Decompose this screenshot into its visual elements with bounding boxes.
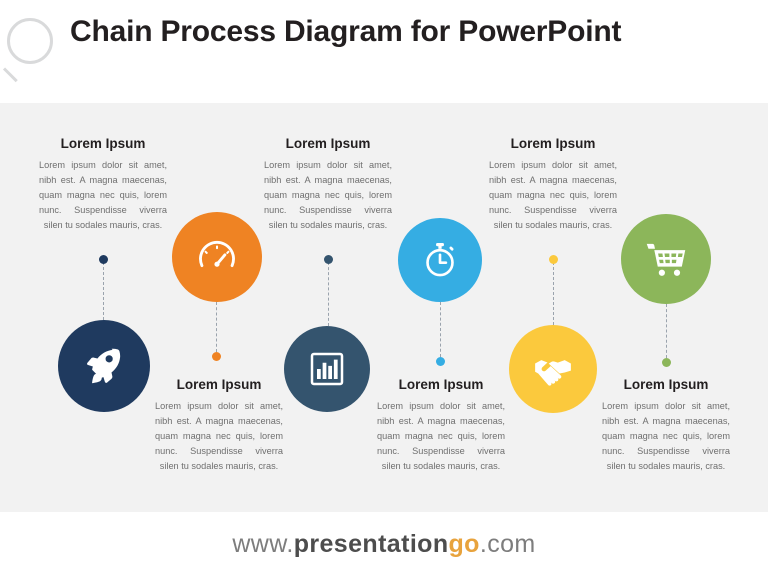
footer-brand-presentation: presentation — [294, 530, 449, 558]
step-body-6: Lorem ipsum dolor sit amet, nibh est. A … — [602, 399, 730, 474]
stopwatch-icon — [419, 239, 461, 281]
footer-branding: www.presentationgo.com — [0, 530, 768, 559]
step-node-6[interactable] — [621, 214, 711, 304]
step-body-1: Lorem ipsum dolor sit amet, nibh est. A … — [39, 158, 167, 233]
connector-dot-1 — [99, 255, 108, 264]
step-node-4[interactable] — [398, 218, 482, 302]
step-text-5: Lorem Ipsum Lorem ipsum dolor sit amet, … — [489, 136, 617, 233]
connector-dot-2 — [212, 352, 221, 361]
footer-brand-go: go — [449, 530, 480, 558]
connector-dot-3 — [324, 255, 333, 264]
step-body-3: Lorem ipsum dolor sit amet, nibh est. A … — [264, 158, 392, 233]
step-text-3: Lorem Ipsum Lorem ipsum dolor sit amet, … — [264, 136, 392, 233]
footer-tld: .com — [480, 530, 536, 558]
connector-line-1 — [103, 262, 104, 320]
footer-www: www. — [232, 530, 293, 558]
step-text-2: Lorem Ipsum Lorem ipsum dolor sit amet, … — [155, 377, 283, 474]
step-text-6: Lorem Ipsum Lorem ipsum dolor sit amet, … — [602, 377, 730, 474]
step-title-6: Lorem Ipsum — [602, 377, 730, 392]
connector-line-5 — [553, 262, 554, 325]
connector-line-3 — [328, 262, 329, 326]
connector-dot-5 — [549, 255, 558, 264]
connector-line-6 — [666, 304, 667, 358]
connector-dot-6 — [662, 358, 671, 367]
step-text-1: Lorem Ipsum Lorem ipsum dolor sit amet, … — [39, 136, 167, 233]
shopping-cart-icon — [644, 237, 688, 281]
step-title-3: Lorem Ipsum — [264, 136, 392, 151]
step-body-2: Lorem ipsum dolor sit amet, nibh est. A … — [155, 399, 283, 474]
step-title-5: Lorem Ipsum — [489, 136, 617, 151]
connector-dot-4 — [436, 357, 445, 366]
rocket-icon — [82, 344, 126, 388]
step-node-3[interactable] — [284, 326, 370, 412]
step-text-4: Lorem Ipsum Lorem ipsum dolor sit amet, … — [377, 377, 505, 474]
step-title-2: Lorem Ipsum — [155, 377, 283, 392]
step-node-1[interactable] — [58, 320, 150, 412]
slide-canvas: Chain Process Diagram for PowerPoint — [0, 0, 768, 576]
step-node-2[interactable] — [172, 212, 262, 302]
magnifier-handle-icon — [3, 67, 18, 82]
step-body-4: Lorem ipsum dolor sit amet, nibh est. A … — [377, 399, 505, 474]
step-title-4: Lorem Ipsum — [377, 377, 505, 392]
page-title: Chain Process Diagram for PowerPoint — [70, 12, 730, 52]
step-title-1: Lorem Ipsum — [39, 136, 167, 151]
magnifier-icon — [7, 18, 53, 64]
connector-line-2 — [216, 302, 217, 352]
connector-line-4 — [440, 302, 441, 357]
handshake-icon — [531, 347, 575, 391]
step-node-5[interactable] — [509, 325, 597, 413]
step-body-5: Lorem ipsum dolor sit amet, nibh est. A … — [489, 158, 617, 233]
gauge-icon — [194, 234, 240, 280]
bar-chart-icon — [307, 349, 347, 389]
